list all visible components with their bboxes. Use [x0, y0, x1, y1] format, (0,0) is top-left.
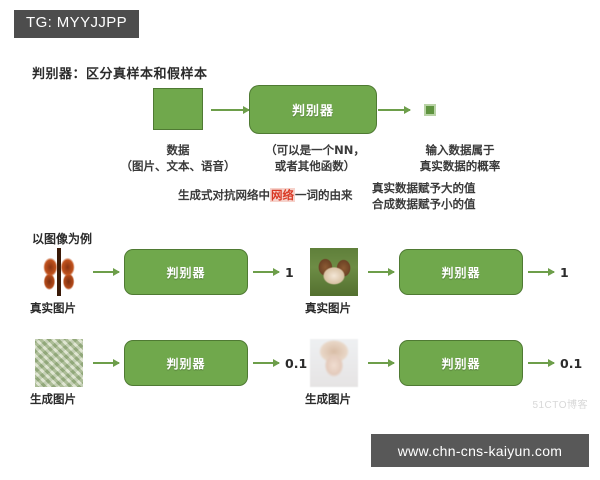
caption-probability: 输入数据属于 真实数据的概率: [390, 143, 530, 174]
thumbnail-caption-1: 真实图片: [305, 300, 351, 316]
caption-data-line2: （图片、文本、语音）: [118, 159, 238, 175]
top-flow-diagram: 判别器: [0, 85, 600, 135]
value-assignment-note: 真实数据赋予大的值 合成数据赋予小的值: [372, 181, 476, 212]
arrow-to-discriminator-1-icon: [368, 271, 394, 273]
thumbnail-generated-face-image: [310, 339, 358, 387]
case-row-real-butterfly: 真实图片 判别器 1: [0, 248, 300, 310]
arrow-to-score-1-icon: [528, 271, 554, 273]
caption-prob-line1: 输入数据属于: [390, 143, 530, 159]
caption-nn-line2: 或者其他函数）: [245, 159, 385, 175]
caption-nn-line1: （可以是一个NN，: [245, 143, 385, 159]
discriminator-box: 判别器: [249, 85, 377, 134]
page-title: 判别器：区分真样本和假样本: [32, 63, 208, 82]
discriminator-box-2: 判别器: [124, 340, 248, 386]
case-row-real-dog: 真实图片 判别器 1: [300, 248, 600, 310]
slide-canvas: TG: MYYJJPP 判别器：区分真样本和假样本 判别器 数据 （图片、文本、…: [0, 0, 600, 480]
arrow-to-discriminator-0-icon: [93, 271, 119, 273]
thumbnail-generated-green-image: [35, 339, 83, 387]
discriminator-box-1: 判别器: [399, 249, 523, 295]
network-origin-suffix: 一词的由来: [295, 188, 353, 202]
caption-prob-line2: 真实数据的概率: [390, 159, 530, 175]
score-1: 1: [560, 265, 569, 280]
value-note-line2: 合成数据赋予小的值: [372, 197, 476, 213]
arrow-to-score-3-icon: [528, 362, 554, 364]
caption-nn: （可以是一个NN， 或者其他函数）: [245, 143, 385, 174]
thumbnail-caption-0: 真实图片: [30, 300, 76, 316]
arrow-to-score-0-icon: [253, 271, 279, 273]
discriminator-box-3: 判别器: [399, 340, 523, 386]
caption-data: 数据 （图片、文本、语音）: [118, 143, 238, 174]
score-0: 1: [285, 265, 294, 280]
case-row-fake-face: 生成图片 判别器 0.1: [300, 339, 600, 401]
caption-data-line1: 数据: [118, 143, 238, 159]
arrow-discriminator-to-output-icon: [378, 109, 410, 111]
arrow-to-discriminator-2-icon: [93, 362, 119, 364]
network-highlight: 网络: [270, 188, 295, 202]
case-row-fake-green: 生成图片 判别器 0.1: [0, 339, 300, 401]
thumbnail-dog-image: [310, 248, 358, 296]
arrow-input-to-discriminator-icon: [211, 109, 249, 111]
network-origin-prefix: 生成式对抗网络中: [178, 188, 270, 202]
image-example-label: 以图像为例: [32, 230, 92, 247]
arrow-to-discriminator-3-icon: [368, 362, 394, 364]
output-probability-square: [424, 104, 436, 116]
site-url-banner: www.chn-cns-kaiyun.com: [371, 434, 589, 467]
discriminator-box-0: 判别器: [124, 249, 248, 295]
network-origin-note: 生成式对抗网络中网络一词的由来: [178, 187, 353, 203]
arrow-to-score-2-icon: [253, 362, 279, 364]
value-note-line1: 真实数据赋予大的值: [372, 181, 476, 197]
thumbnail-butterfly-image: [35, 248, 83, 296]
thumbnail-caption-2: 生成图片: [30, 391, 76, 407]
input-data-square: [153, 88, 203, 130]
score-3: 0.1: [560, 356, 582, 371]
watermark: 51CTO博客: [532, 396, 588, 411]
thumbnail-caption-3: 生成图片: [305, 391, 351, 407]
tg-tag: TG: MYYJJPP: [14, 10, 139, 38]
